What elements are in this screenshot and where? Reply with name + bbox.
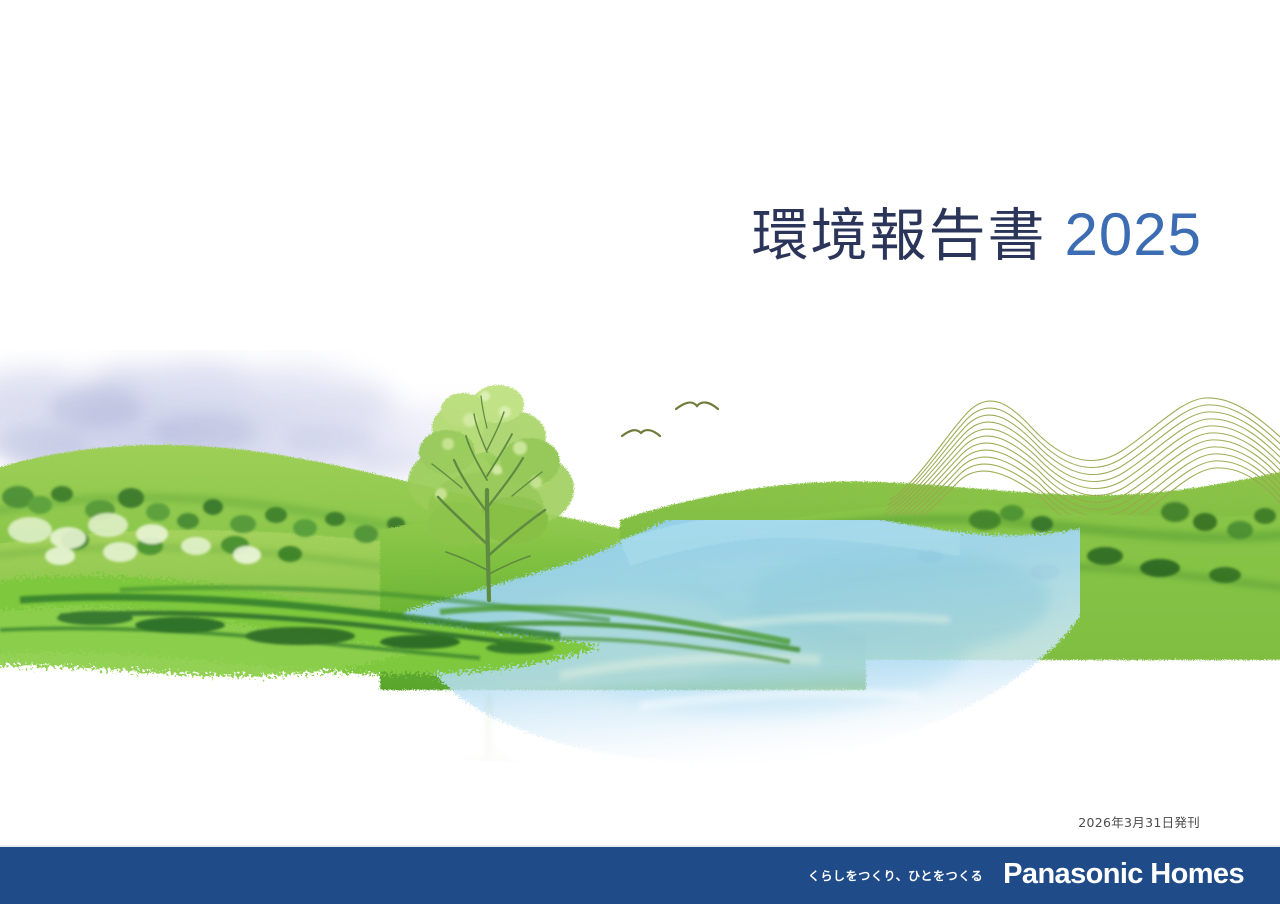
cover-artwork [0, 0, 1280, 845]
brand-tagline: くらしをつくり、ひとをつくる [808, 867, 983, 884]
bird-right [676, 402, 718, 409]
report-cover-page: 環境報告書 2025 2026年3月31日発刊 くらしをつくり、ひとをつくる P… [0, 0, 1280, 904]
page-title: 環境報告書 [752, 208, 1047, 265]
cover-title: 環境報告書 2025 [752, 205, 1202, 265]
flying-birds [622, 402, 718, 436]
brand-lockup: くらしをつくり、ひとをつくる Panasonic Homes [808, 860, 1244, 889]
bird-left [622, 430, 660, 436]
report-year: 2025 [1065, 205, 1202, 265]
brand-logo-panasonic-homes: Panasonic Homes [1003, 860, 1244, 889]
footer-bar: くらしをつくり、ひとをつくる Panasonic Homes [0, 845, 1280, 904]
publication-date: 2026年3月31日発刊 [1078, 812, 1200, 831]
